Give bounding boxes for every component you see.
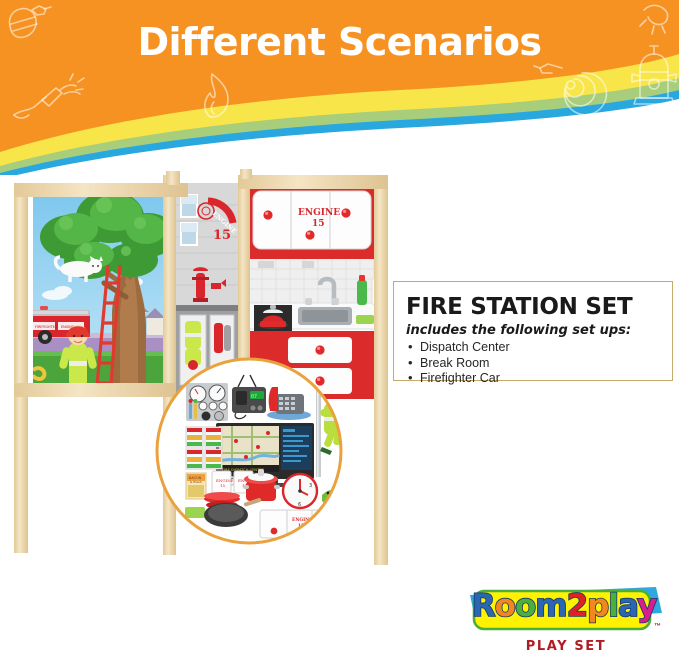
trademark-symbol: ™ (654, 623, 661, 630)
logo-wordmark: Room2play (466, 588, 662, 624)
upper-cabinets: ENGINE 15 (253, 191, 371, 249)
svg-text:15: 15 (220, 483, 226, 488)
list-item: Dispatch Center (406, 340, 672, 356)
setup-list: Dispatch Center Break Room Firefighter C… (406, 340, 672, 387)
logo-letter: y (637, 588, 656, 624)
gauge-control-panel (186, 383, 228, 421)
green-sponge (185, 507, 205, 518)
svg-text:FIREFIGHTER: FIREFIGHTER (35, 325, 58, 329)
logo-letter: p (587, 588, 608, 624)
logo-letter: a (618, 588, 637, 624)
svg-text:07: 07 (251, 394, 257, 400)
info-panel: FIRE STATION SET includes the following … (393, 281, 673, 381)
list-item: Firefighter Car (406, 371, 672, 387)
svg-text:15: 15 (213, 228, 231, 243)
page-title: Different Scenarios (0, 20, 679, 64)
info-panel-title: FIRE STATION SET (406, 294, 672, 320)
marketing-image: Different Scenarios (0, 0, 679, 662)
header-banner: Different Scenarios (0, 0, 679, 175)
cabinet-number-text: 15 (312, 219, 325, 229)
cabinet-engine-text: ENGINE (298, 208, 340, 218)
logo-tagline: PLAY SET (466, 639, 666, 654)
logo-letter: 2 (567, 588, 588, 624)
logo-letter: l (608, 588, 618, 624)
tree-rescue-scene: FIREFIGHTER ENGINE 15 (28, 191, 176, 397)
stove (254, 305, 292, 331)
list-item: Break Room (406, 356, 672, 372)
info-panel-subtitle: includes the following set ups: (406, 323, 672, 338)
logo-letter: o (495, 588, 515, 624)
logo-letter: o (515, 588, 535, 624)
wall-clock: 3 6 (283, 474, 317, 508)
cereal-box: BACON & EGGS (186, 473, 206, 499)
svg-text:& EGGS: & EGGS (190, 480, 202, 484)
logo-letter: m (535, 588, 566, 624)
svg-text:3: 3 (309, 483, 312, 489)
engine-15-cabinet: ENGINE 15 (260, 510, 338, 538)
brand-logo: Room2play ™ PLAY SET (466, 583, 666, 657)
logo-letter: R (472, 588, 495, 624)
svg-text:6: 6 (298, 502, 301, 508)
